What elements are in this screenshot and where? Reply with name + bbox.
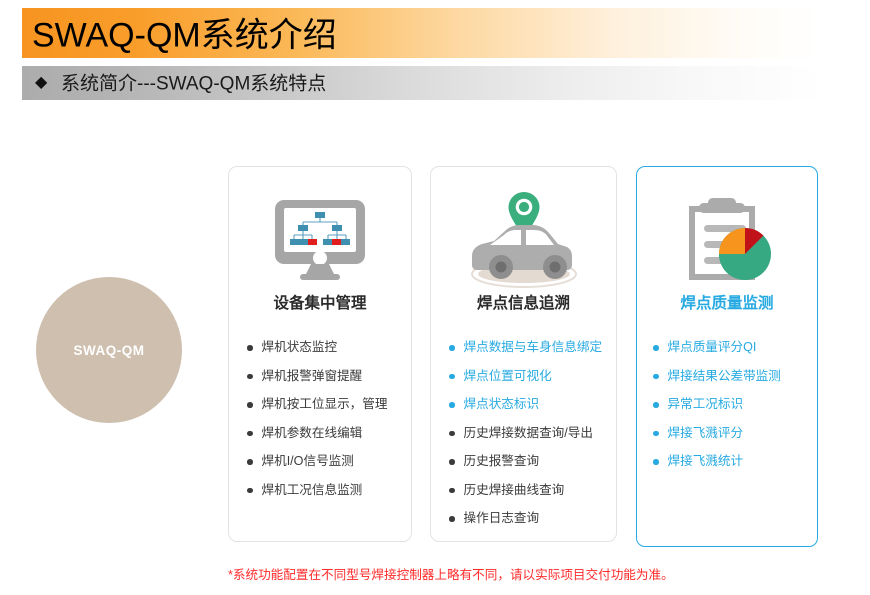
bullet-icon <box>247 345 253 351</box>
list-item-label: 焊机按工位显示，管理 <box>262 396 388 413</box>
list-item-label: 焊接结果公差带监测 <box>668 368 781 385</box>
list-item[interactable]: 焊点位置可视化 <box>449 368 606 385</box>
bullet-icon <box>247 431 253 437</box>
list-item[interactable]: 焊机按工位显示，管理 <box>247 396 401 413</box>
bullet-icon <box>653 374 659 380</box>
bullet-icon <box>653 402 659 408</box>
swaq-qm-badge: SWAQ-QM <box>36 277 182 423</box>
clipboard-piechart-icon <box>637 185 817 295</box>
bullet-icon <box>449 374 455 380</box>
feature-card-device-management[interactable]: 设备集中管理 焊机状态监控 焊机报警弹窗提醒 焊机按工位显示，管理 焊机参数在线… <box>228 166 412 542</box>
bullet-icon <box>449 488 455 494</box>
list-item-label: 焊机工况信息监测 <box>262 482 363 499</box>
list-item-label: 历史报警查询 <box>464 453 540 470</box>
list-item-label: 焊机状态监控 <box>262 339 338 356</box>
card-title: 焊点信息追溯 <box>431 291 616 313</box>
list-item[interactable]: 历史焊接曲线查询 <box>449 482 606 499</box>
car-location-pin-icon <box>431 185 616 295</box>
list-item[interactable]: 历史报警查询 <box>449 453 606 470</box>
feature-list: 焊点数据与车身信息绑定 焊点位置可视化 焊点状态标识 历史焊接数据查询/导出 历… <box>449 339 606 539</box>
list-item-label: 焊接飞溅评分 <box>668 425 744 442</box>
list-item-label: 焊点位置可视化 <box>464 368 552 385</box>
bullet-icon <box>449 459 455 465</box>
list-item[interactable]: 焊接结果公差带监测 <box>653 368 807 385</box>
bullet-icon <box>653 459 659 465</box>
list-item[interactable]: 焊点数据与车身信息绑定 <box>449 339 606 356</box>
page-title: SWAQ-QM系统介绍 <box>32 8 337 57</box>
list-item[interactable]: 异常工况标识 <box>653 396 807 413</box>
list-item[interactable]: 焊点状态标识 <box>449 396 606 413</box>
card-title: 焊点质量监测 <box>637 291 817 313</box>
bullet-icon <box>449 516 455 522</box>
bullet-icon <box>653 431 659 437</box>
list-item[interactable]: 焊点质量评分QI <box>653 339 807 356</box>
section-subtitle-bar: ◆ 系统简介---SWAQ-QM系统特点 <box>22 66 822 100</box>
card-title: 设备集中管理 <box>229 291 411 313</box>
list-item[interactable]: 焊接飞溅统计 <box>653 453 807 470</box>
list-item[interactable]: 焊机状态监控 <box>247 339 401 356</box>
diamond-icon: ◆ <box>35 75 47 91</box>
bullet-icon <box>449 402 455 408</box>
list-item-label: 焊机I/O信号监测 <box>262 453 354 470</box>
bullet-icon <box>653 345 659 351</box>
feature-card-weld-traceability[interactable]: 焊点信息追溯 焊点数据与车身信息绑定 焊点位置可视化 焊点状态标识 历史焊接数据… <box>430 166 617 542</box>
list-item-label: 焊点质量评分QI <box>668 339 757 356</box>
list-item-label: 历史焊接数据查询/导出 <box>464 425 593 442</box>
page-title-bar: SWAQ-QM系统介绍 <box>22 8 822 58</box>
list-item-label: 异常工况标识 <box>668 396 744 413</box>
list-item-label: 操作日志查询 <box>464 510 540 527</box>
bullet-icon <box>247 402 253 408</box>
bullet-icon <box>449 345 455 351</box>
list-item-label: 焊接飞溅统计 <box>668 453 744 470</box>
feature-list: 焊机状态监控 焊机报警弹窗提醒 焊机按工位显示，管理 焊机参数在线编辑 焊机I/… <box>247 339 401 510</box>
list-item-label: 历史焊接曲线查询 <box>464 482 565 499</box>
list-item[interactable]: 焊机I/O信号监测 <box>247 453 401 470</box>
feature-card-weld-quality[interactable]: 焊点质量监测 焊点质量评分QI 焊接结果公差带监测 异常工况标识 焊接飞溅评分 … <box>636 166 818 547</box>
list-item[interactable]: 操作日志查询 <box>449 510 606 527</box>
badge-label: SWAQ-QM <box>74 343 145 358</box>
section-subtitle: 系统简介---SWAQ-QM系统特点 <box>61 68 326 95</box>
monitor-network-icon <box>229 185 411 295</box>
list-item[interactable]: 焊接飞溅评分 <box>653 425 807 442</box>
list-item[interactable]: 焊机工况信息监测 <box>247 482 401 499</box>
list-item-label: 焊点数据与车身信息绑定 <box>464 339 603 356</box>
list-item-label: 焊机参数在线编辑 <box>262 425 363 442</box>
list-item[interactable]: 焊机报警弹窗提醒 <box>247 368 401 385</box>
bullet-icon <box>247 374 253 380</box>
list-item-label: 焊机报警弹窗提醒 <box>262 368 363 385</box>
feature-list: 焊点质量评分QI 焊接结果公差带监测 异常工况标识 焊接飞溅评分 焊接飞溅统计 <box>653 339 807 482</box>
footnote-disclaimer: *系统功能配置在不同型号焊接控制器上略有不同，请以实际项目交付功能为准。 <box>228 564 828 583</box>
bullet-icon <box>247 488 253 494</box>
list-item-label: 焊点状态标识 <box>464 396 540 413</box>
list-item[interactable]: 焊机参数在线编辑 <box>247 425 401 442</box>
list-item[interactable]: 历史焊接数据查询/导出 <box>449 425 606 442</box>
bullet-icon <box>247 459 253 465</box>
bullet-icon <box>449 431 455 437</box>
